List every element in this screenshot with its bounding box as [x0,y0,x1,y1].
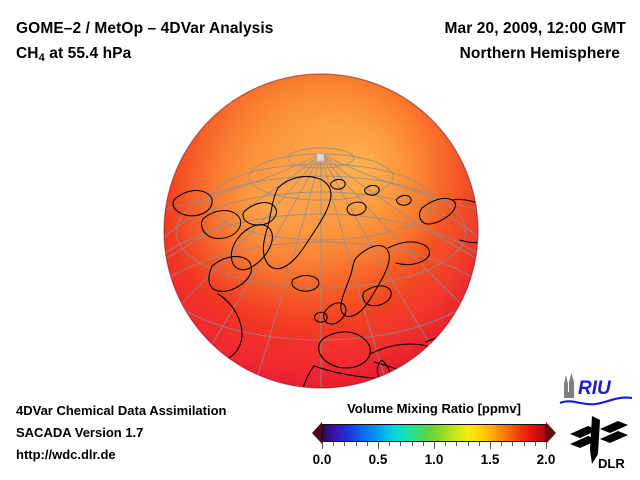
colorbar-major-tick [490,442,491,449]
riu-logo: RIU [558,372,634,410]
colorbar-minor-tick [389,442,390,446]
colorbar-minor-tick [400,442,401,446]
dlr-wordmark: DLR [598,456,625,471]
colorbar-minor-tick [479,442,480,446]
colorbar-minor-tick [367,442,368,446]
footer-line-assimilation: 4DVar Chemical Data Assimilation [16,400,316,422]
footer-left: 4DVar Chemical Data Assimilation SACADA … [16,400,316,466]
riu-wordmark: RIU [578,378,612,399]
species-pressure-line: CH4 at 55.4 hPa [16,41,376,71]
header-left: GOME–2 / MetOp – 4DVar Analysis CH4 at 5… [16,16,376,71]
colorbar-minor-tick [423,442,424,446]
colorbar-ticks [322,442,546,449]
colorbar-major-tick [434,442,435,449]
footer-line-url: http://wdc.dlr.de [16,444,316,466]
header-right: Mar 20, 2009, 12:00 GMT Northern Hemisph… [326,16,626,66]
colorbar-high-cap-arrow [546,422,556,444]
colorbar-title: Volume Mixing Ratio [ppmv] [312,400,556,417]
colorbar-major-tick [378,442,379,449]
region-label: Northern Hemisphere [326,41,626,66]
colorbar-minor-tick [501,442,502,446]
colorbar-label: 2.0 [537,452,556,467]
colorbar-minor-tick [344,442,345,446]
species-label: CH [16,45,39,62]
colorbar-low-cap-arrow [312,422,322,444]
colorbar-tick-labels: 0.00.51.01.52.0 [312,452,556,470]
colorbar-label: 1.5 [481,452,500,467]
colorbar-minor-tick [468,442,469,446]
footer-line-version: SACADA Version 1.7 [16,422,316,444]
colorbar-label: 1.0 [425,452,444,467]
pressure-level-label: at 55.4 hPa [45,45,132,62]
colorbar-minor-tick [456,442,457,446]
page-title: GOME–2 / MetOp – 4DVar Analysis [16,16,376,41]
colorbar-minor-tick [535,442,536,446]
colorbar-bar [312,422,556,444]
colorbar-minor-tick [524,442,525,446]
riu-tower-icon [564,373,574,398]
globe-map [160,70,482,392]
colorbar-major-tick [546,442,547,449]
dlr-logo: DLR [568,414,630,472]
colorbar-gradient [322,424,546,442]
colorbar-minor-tick [512,442,513,446]
datetime-label: Mar 20, 2009, 12:00 GMT [326,16,626,41]
colorbar-minor-tick [356,442,357,446]
colorbar-major-tick [322,442,323,449]
colorbar-minor-tick [445,442,446,446]
colorbar: Volume Mixing Ratio [ppmv] 0.00.51.01.52… [312,400,556,470]
north-pole-marker [317,154,324,161]
colorbar-minor-tick [333,442,334,446]
colorbar-label: 0.0 [313,452,332,467]
colorbar-minor-tick [412,442,413,446]
colorbar-label: 0.5 [369,452,388,467]
